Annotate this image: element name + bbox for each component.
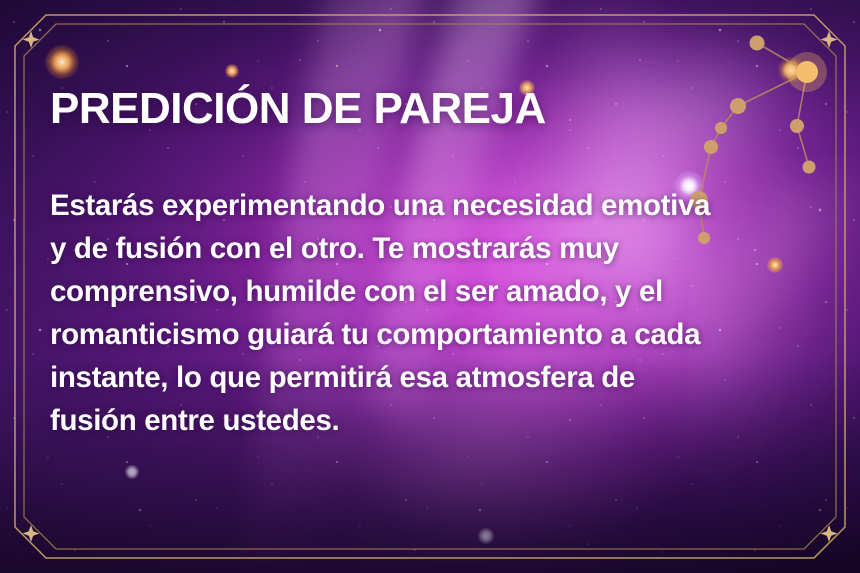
body-line: instante, lo que permitirá esa atmosfera… [50, 356, 768, 399]
horoscope-prediction-card: PREDICIÓN DE PAREJA Estarás experimentan… [0, 0, 860, 573]
amber-star-upper [225, 64, 239, 78]
white-star-low-mid [478, 528, 494, 544]
card-content: PREDICIÓN DE PAREJA Estarás experimentan… [50, 86, 790, 442]
body-line: romanticismo guiará tu comportamiento a … [50, 313, 768, 356]
amber-star-right [778, 57, 804, 83]
body-line: fusión entre ustedes. [50, 399, 768, 442]
page-title: PREDICIÓN DE PAREJA [50, 86, 790, 132]
amber-star-top-left [45, 45, 79, 79]
body-line: y de fusión con el otro. Te mostrarás mu… [50, 227, 768, 270]
body-line: comprensivo, humilde con el ser amado, y… [50, 270, 768, 313]
white-star-low-left [125, 465, 139, 479]
prediction-body: Estarás experimentando una necesidad emo… [50, 132, 768, 442]
body-line: Estarás experimentando una necesidad emo… [50, 184, 768, 227]
